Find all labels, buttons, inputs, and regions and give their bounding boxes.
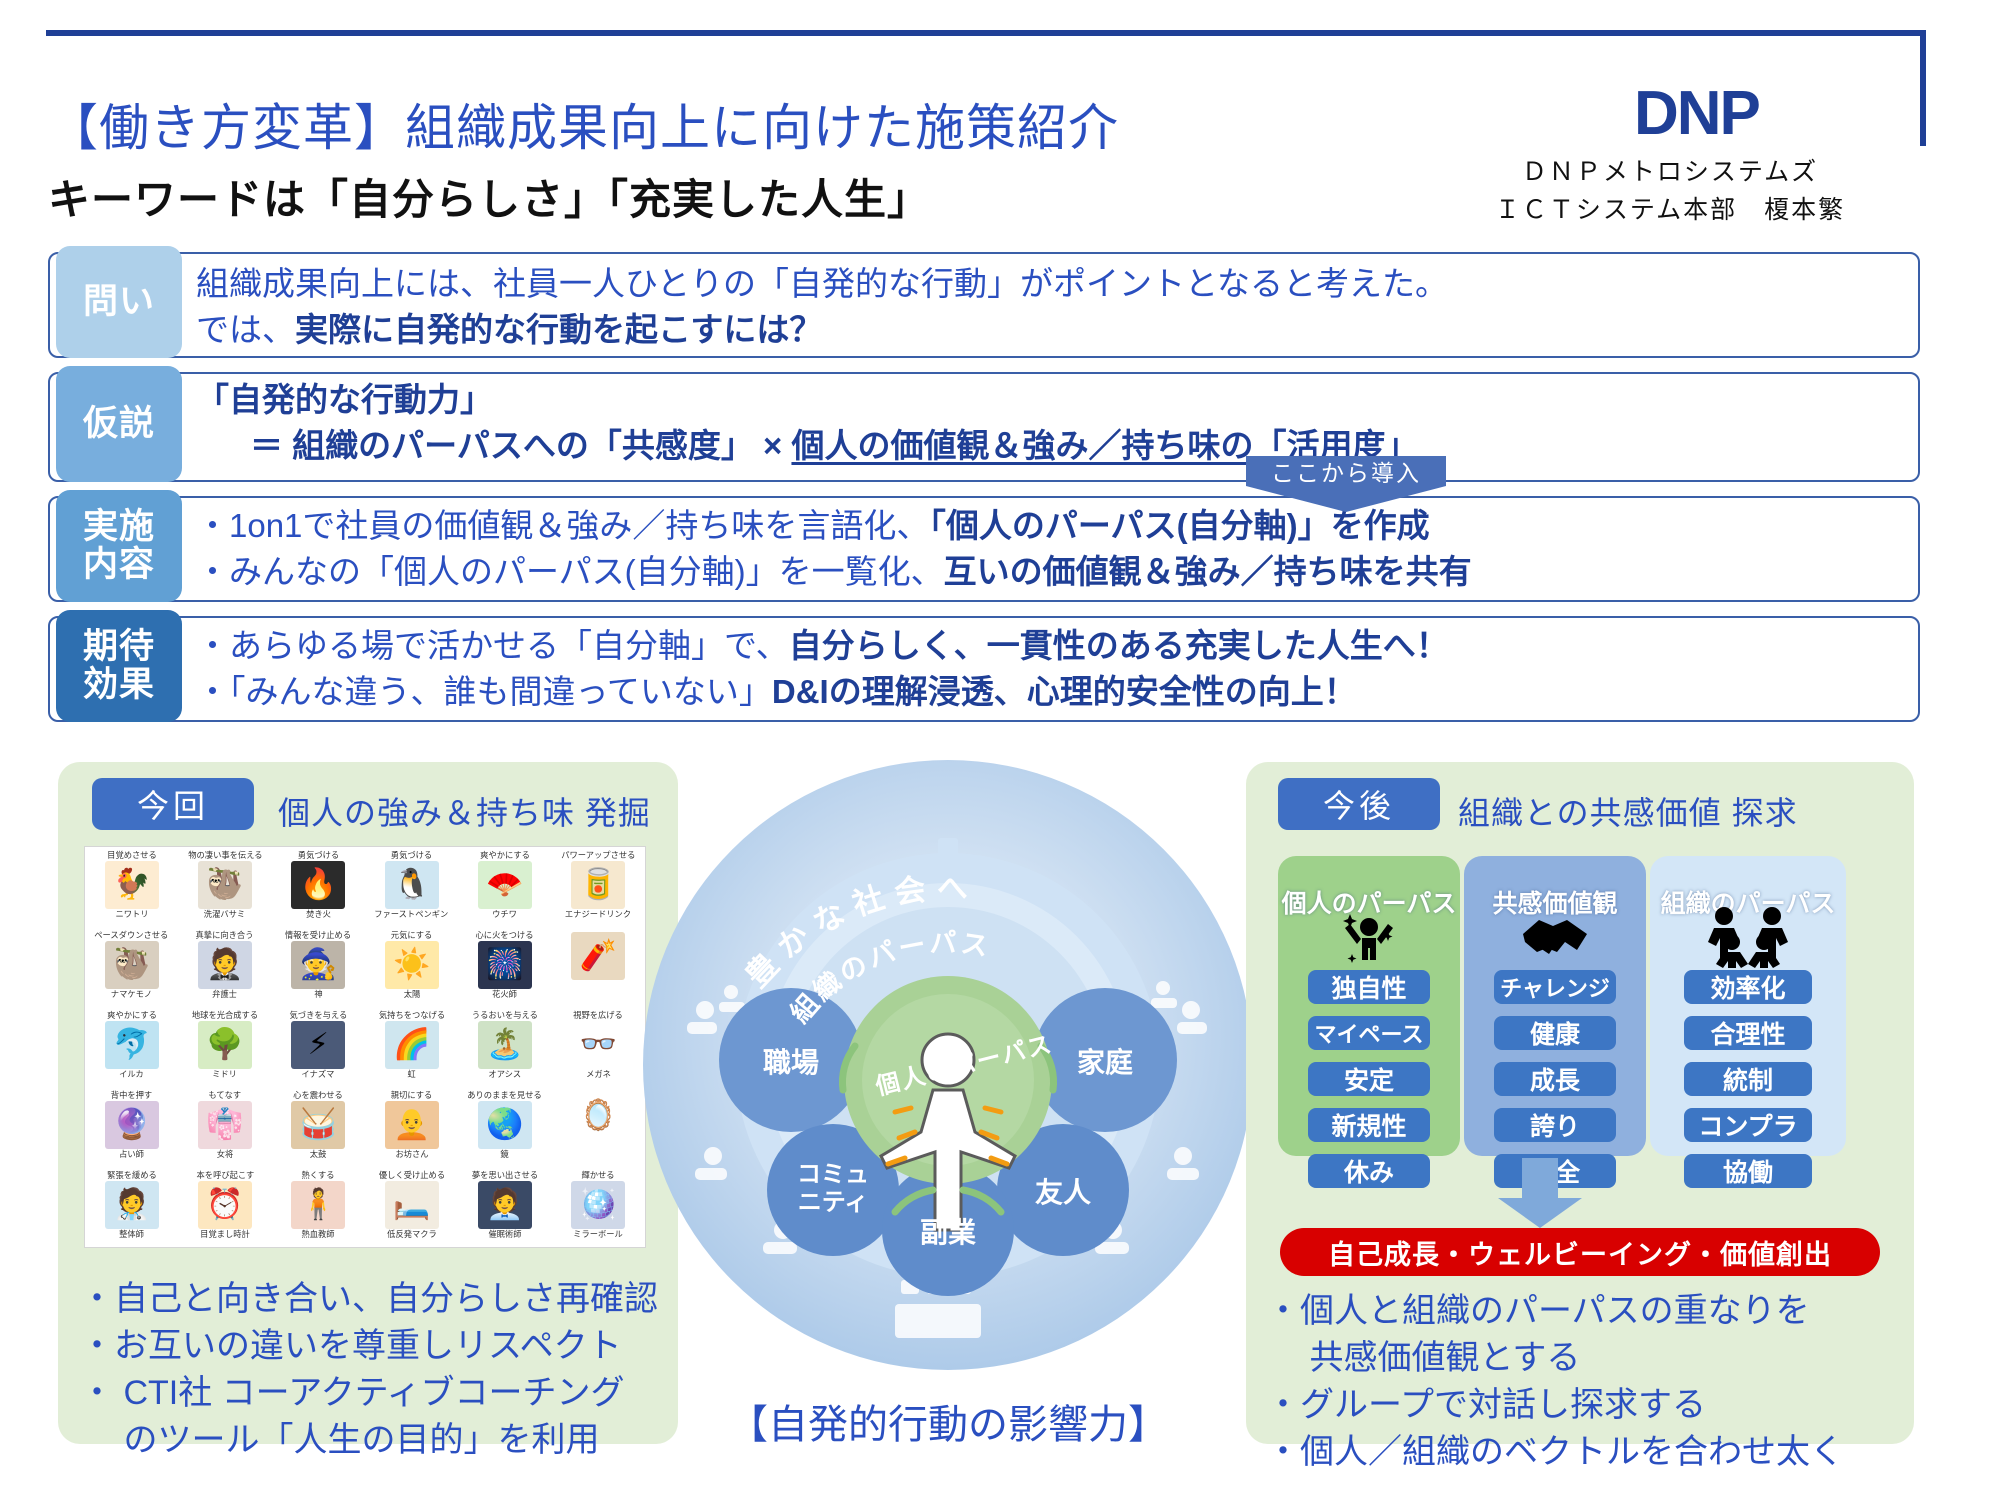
right-panel-bullets: ・個人と組織のパーパスの重なりを 共感価値観とする ・グループで対話し探求する … xyxy=(1266,1288,1844,1476)
strength-card[interactable]: 気持ちをつなげる🌈虹 xyxy=(365,1007,458,1087)
strength-card-image: 🥁 xyxy=(291,1101,345,1149)
strength-card-image: 🐓 xyxy=(105,861,159,909)
strength-card-caption: 気づきを与える xyxy=(289,1011,347,1020)
strength-card-caption: 視野を広げる xyxy=(573,1011,623,1020)
strength-card-image: 🪭 xyxy=(478,861,532,909)
strength-card-caption: 心を震わせる xyxy=(293,1091,343,1100)
strength-card-name: 催眠術師 xyxy=(488,1231,521,1240)
strength-card-image: 🧙 xyxy=(291,941,345,989)
frame-right-rule xyxy=(1920,30,1926,146)
strength-card-image: 🌏 xyxy=(478,1101,532,1149)
strength-card-name: イナズマ xyxy=(302,1071,335,1080)
strength-card-board[interactable]: 目覚めさせる🐓ニワトリ物の凄い事を伝える🦥洗濯バサミ勇気づける🔥焚き火勇気づける… xyxy=(84,846,646,1248)
strength-card[interactable]: ありのままを見せる🌏鏡 xyxy=(458,1087,551,1167)
strength-card-name: 虹 xyxy=(408,1071,416,1080)
row-effects-line2-plain: ・「みんな違う、誰も間違っていない」 xyxy=(196,673,772,710)
strength-card[interactable]: 熱くする🧍熱血教師 xyxy=(272,1167,365,1247)
dnp-logo: DNP xyxy=(1634,78,1759,149)
pill-individual-3[interactable]: 安定 xyxy=(1308,1062,1430,1096)
row-tag-activities: 実施 内容 xyxy=(56,490,182,602)
slide-root: 【働き方変革】組織成果向上に向けた施策紹介 キーワードは「自分らしさ」「充実した… xyxy=(0,0,1990,1512)
left-bullet-1: ・自己と向き合い、自分らしさ再確認 xyxy=(80,1276,658,1323)
strength-card-caption: 夢を思い出させる xyxy=(472,1171,538,1180)
strength-card[interactable]: うるおいを与える🏝️オアシス xyxy=(458,1007,551,1087)
strength-card[interactable]: 🪞 xyxy=(552,1087,645,1167)
strength-card-name: ミラーボール xyxy=(573,1231,623,1240)
strength-card-caption: パワーアップさせる xyxy=(561,851,635,860)
strength-card-name: 神 xyxy=(314,991,322,1000)
handshake-svg xyxy=(1519,910,1591,962)
row-tag-activities-line1: 実施 xyxy=(83,508,155,546)
pill-individual-5[interactable]: 休み xyxy=(1308,1154,1430,1188)
strength-card-name: 占い師 xyxy=(119,1151,144,1160)
strength-card-caption: 緊張を緩める xyxy=(107,1171,157,1180)
right-panel-head: 組織との共感価値 探求 xyxy=(1458,788,1798,834)
strength-card[interactable]: 目覚めさせる🐓ニワトリ xyxy=(85,847,178,927)
row-activities-line1: ・1on1で社員の価値観＆強み／持ち味を言語化、「個人のパーパス(自分軸)」を作… xyxy=(196,504,1430,548)
pill-shared-4[interactable]: 誇り xyxy=(1494,1108,1616,1142)
strength-card-name: 太鼓 xyxy=(310,1151,327,1160)
pill-individual-2[interactable]: マイペース xyxy=(1308,1016,1430,1050)
strength-card-image: ⏰ xyxy=(198,1181,252,1229)
strength-card-image: 🧍 xyxy=(291,1181,345,1229)
pill-individual-4[interactable]: 新規性 xyxy=(1308,1108,1430,1142)
strength-card-name: 焚き火 xyxy=(306,911,331,920)
strength-card-caption: 勇気づける xyxy=(391,851,432,860)
strength-card-caption: 熱くする xyxy=(302,1171,335,1180)
strength-card-name: 女将 xyxy=(217,1151,234,1160)
center-caption: 【自発的行動の影響力】 xyxy=(643,1392,1253,1450)
row-hypothesis-line2-bold: ＝ 組織のパーパスへの「共感度」 × xyxy=(250,427,791,464)
row-tag-effects: 期待 効果 xyxy=(56,610,182,722)
strength-card-image: 🛏️ xyxy=(385,1181,439,1229)
org-line-2: ＩＣＴシステム本部 榎本繁 xyxy=(1420,190,1920,226)
strength-card-image: 🔮 xyxy=(105,1101,159,1149)
introduce-banner: ここから導入 xyxy=(1246,456,1446,512)
row-question-line2-plain: では、 xyxy=(196,311,295,348)
influence-circle-diagram: 豊かな社会へ 組織のパーパス 個人のパーパス 職場 家庭 コミュ ニティ 友人 … xyxy=(643,760,1253,1370)
strength-card-caption: 親切にする xyxy=(391,1091,432,1100)
org-line-1: ＤＮＰメトロシステムズ xyxy=(1420,152,1920,188)
row-tag-question: 問い xyxy=(56,246,182,358)
row-tag-question-line1: 問い xyxy=(83,283,155,321)
right-bullet-2: 共感価値観とする xyxy=(1266,1335,1844,1382)
strength-card-name: ウチワ xyxy=(493,911,518,920)
row-question-line2: では、実際に自発的な行動を起こすには？ xyxy=(196,308,822,352)
pill-shared-1[interactable]: チャレンジ xyxy=(1494,970,1616,1004)
strength-card-caption: ありのままを見せる xyxy=(468,1091,543,1100)
strength-card-caption: 物の凄い事を伝える xyxy=(188,851,262,860)
outcome-band: 自己成長・ウェルビーイング・価値創出 xyxy=(1280,1228,1880,1276)
row-effects-line2: ・「みんな違う、誰も間違っていない」D&Iの理解浸透、心理的安全性の向上！ xyxy=(196,670,1357,714)
introduce-banner-label: ここから導入 xyxy=(1246,456,1446,486)
right-bullet-4: ・個人／組織のベクトルを合わせ太く xyxy=(1266,1429,1844,1476)
strength-card-image: 🧑‍⚕️ xyxy=(105,1181,159,1229)
row-tag-effects-line1: 期待 xyxy=(83,628,155,666)
strength-card-image: 👘 xyxy=(198,1101,252,1149)
row-effects-line2-bold: D&Iの理解浸透、心理的安全性の向上！ xyxy=(772,673,1357,710)
strength-card[interactable]: 視野を広げる👓メガネ xyxy=(552,1007,645,1087)
two-pairs-icon xyxy=(1650,906,1846,978)
strength-card-name: 花火師 xyxy=(493,991,518,1000)
down-arrow-icon xyxy=(1486,1158,1594,1233)
strength-card-caption: 地球を光合成する xyxy=(192,1011,258,1020)
strength-card[interactable]: 夢を思い出させる🧑‍💼催眠術師 xyxy=(458,1167,551,1247)
strength-card-name: お坊さん xyxy=(395,1151,428,1160)
strength-card-name: 熱血教師 xyxy=(302,1231,335,1240)
strength-card-caption: うるおいを与える xyxy=(472,1011,538,1020)
left-bullet-2: ・お互いの違いを尊重しリスペクト xyxy=(80,1323,658,1370)
pill-org-3[interactable]: 統制 xyxy=(1684,1062,1812,1096)
strength-card-name: 整体師 xyxy=(119,1231,144,1240)
row-question-line1-text: 組織成果向上には、社員一人ひとりの「自発的な行動」がポイントとなると考えた。 xyxy=(196,265,1448,302)
down-arrow-svg xyxy=(1486,1158,1594,1228)
strength-card-caption: 背中を押す xyxy=(111,1091,152,1100)
strength-card-image: 🏝️ xyxy=(478,1021,532,1069)
strength-card-image: 🎆 xyxy=(478,941,532,989)
strength-card[interactable]: 爽やかにする🐬イルカ xyxy=(85,1007,178,1087)
row-tag-effects-line2: 効果 xyxy=(83,666,155,704)
gear-label-sidejob: 副業 xyxy=(920,1217,976,1248)
row-question-line1: 組織成果向上には、社員一人ひとりの「自発的な行動」がポイントとなると考えた。 xyxy=(196,262,1448,306)
row-effects-line1-plain: ・あらゆる場で活かせる「自分軸」で、 xyxy=(196,627,789,664)
gear-label-friends: 友人 xyxy=(1035,1177,1091,1208)
circle-svg: 豊かな社会へ 組織のパーパス 個人のパーパス 職場 家庭 コミュ ニティ 友人 … xyxy=(643,760,1253,1370)
strength-card[interactable]: 勇気づける🐧ファーストペンギン xyxy=(365,847,458,927)
strength-card-name: オアシス xyxy=(489,1071,522,1080)
row-activities-line2-plain: ・みんなの「個人のパーパス(自分軸)」を一覧化、 xyxy=(196,553,944,590)
pill-org-1[interactable]: 効率化 xyxy=(1684,970,1812,1004)
strength-card-image: 🦥 xyxy=(105,941,159,989)
strength-card-caption: 優しく受け止める xyxy=(379,1171,445,1180)
strength-card[interactable]: 真摯に向き合う🤵弁護士 xyxy=(178,927,271,1007)
strength-card-image: 🔥 xyxy=(291,861,345,909)
strength-card[interactable]: 情報を受け止める🧙神 xyxy=(272,927,365,1007)
strength-card-image: 🧑‍💼 xyxy=(478,1181,532,1229)
strength-card-image: 🌳 xyxy=(198,1021,252,1069)
strength-card[interactable]: 緊張を緩める🧑‍⚕️整体師 xyxy=(85,1167,178,1247)
right-bullet-3: ・グループで対話し探求する xyxy=(1266,1382,1844,1429)
strength-card-caption: もてなす xyxy=(209,1091,242,1100)
strength-card-name: 低反発マクラ xyxy=(387,1231,437,1240)
right-panel-chip: 今後 xyxy=(1278,778,1440,830)
left-panel-head: 個人の強み＆持ち味 発掘 xyxy=(278,788,651,834)
strength-card[interactable]: 優しく受け止める🛏️低反発マクラ xyxy=(365,1167,458,1247)
frame-top-rule xyxy=(46,30,1926,36)
handshake-icon xyxy=(1464,910,1646,972)
strength-card[interactable]: もてなす👘女将 xyxy=(178,1087,271,1167)
row-activities-line2: ・みんなの「個人のパーパス(自分軸)」を一覧化、互いの価値観＆強み／持ち味を共有 xyxy=(196,550,1472,594)
strength-card-image: 🌈 xyxy=(385,1021,439,1069)
row-activities-line2-bold: 互いの価値観＆強み／持ち味を共有 xyxy=(944,553,1472,590)
left-panel-bullets: ・自己と向き合い、自分らしさ再確認 ・お互いの違いを尊重しリスペクト ・ CTI… xyxy=(80,1276,658,1464)
strength-card-name: 弁護士 xyxy=(213,991,238,1000)
strength-card-caption: 真摯に向き合う xyxy=(196,931,254,940)
strength-card-name: ファーストペンギン xyxy=(375,911,449,920)
strength-card-caption: 爽やかにする xyxy=(480,851,530,860)
strength-card-image: 🧨 xyxy=(571,932,625,980)
strength-card-caption: 勇気づける xyxy=(298,851,339,860)
gear-label-community: コミュ xyxy=(797,1161,869,1188)
gear-label-workplace: 職場 xyxy=(763,1047,819,1078)
strength-card-image: 🦥 xyxy=(198,861,252,909)
pill-org-2[interactable]: 合理性 xyxy=(1684,1016,1812,1050)
strength-card-image: 🐬 xyxy=(105,1021,159,1069)
row-effects-line1-bold: 自分らしく、一貫性のある充実した人生へ！ xyxy=(789,627,1449,664)
strength-card-name: ナマケモノ xyxy=(111,991,152,1000)
strength-card-caption: ペースダウンさせる xyxy=(95,931,169,940)
strength-card[interactable]: 勇気づける🔥焚き火 xyxy=(272,847,365,927)
two-pairs-svg xyxy=(1706,906,1790,968)
strength-card-name: 鏡 xyxy=(501,1151,509,1160)
strength-card-name: メガネ xyxy=(586,1071,611,1080)
row-activities-line1-plain: ・1on1で社員の価値観＆強み／持ち味を言語化、 xyxy=(196,507,929,544)
strength-card[interactable]: 本を呼び起こす⏰目覚まし時計 xyxy=(178,1167,271,1247)
strength-card-name: イルカ xyxy=(119,1071,144,1080)
strength-card[interactable]: 背中を押す🔮占い師 xyxy=(85,1087,178,1167)
strength-card[interactable]: 元気にする☀️太陽 xyxy=(365,927,458,1007)
strength-card-caption: 情報を受け止める xyxy=(285,931,351,940)
strength-card-caption: 元気にする xyxy=(391,931,432,940)
strength-card-caption: 心に火をつける xyxy=(476,931,534,940)
strength-card-image: 👓 xyxy=(571,1021,625,1069)
strength-card-name: エナジードリンク xyxy=(565,911,631,920)
strength-card[interactable]: 気づきを与える⚡イナズマ xyxy=(272,1007,365,1087)
strength-card-image: 🐧 xyxy=(385,861,439,909)
strength-card[interactable]: 親切にする🧑‍🦲お坊さん xyxy=(365,1087,458,1167)
strength-card-caption: 目覚めさせる xyxy=(107,851,157,860)
pill-org-5[interactable]: 協働 xyxy=(1684,1154,1812,1188)
strength-card[interactable]: パワーアップさせる🥫エナジードリンク xyxy=(552,847,645,927)
page-subtitle: キーワードは「自分らしさ」「充実した人生」 xyxy=(48,166,930,227)
row-activities-line1-bold: 「個人のパーパス(自分軸)」を作成 xyxy=(929,507,1429,544)
introduce-banner-arrow-icon xyxy=(1246,486,1446,512)
pill-individual-1[interactable]: 独自性 xyxy=(1308,970,1430,1004)
strength-card-name: ミドリ xyxy=(213,1071,238,1080)
row-effects-line1: ・あらゆる場で活かせる「自分軸」で、自分らしく、一貫性のある充実した人生へ！ xyxy=(196,624,1449,668)
strength-card[interactable]: ペースダウンさせる🦥ナマケモノ xyxy=(85,927,178,1007)
row-tag-hypothesis-line1: 仮説 xyxy=(83,405,155,443)
right-bullet-1: ・個人と組織のパーパスの重なりを xyxy=(1266,1288,1844,1335)
celebrate-person-icon xyxy=(1278,910,1460,976)
row-hypothesis-line2: ＝ 組織のパーパスへの「共感度」 × 個人の価値観＆強み／持ち味の「活用度」 xyxy=(250,424,1418,468)
strength-card[interactable]: 心に火をつける🎆花火師 xyxy=(458,927,551,1007)
strength-card-caption: 輝かせる xyxy=(582,1171,615,1180)
strength-card[interactable]: 🧨 xyxy=(552,927,645,1007)
strength-card-image: ☀️ xyxy=(385,941,439,989)
row-question-line2-bold: 実際に自発的な行動を起こすには？ xyxy=(295,311,822,348)
strength-card-caption: 爽やかにする xyxy=(107,1011,157,1020)
strength-card[interactable]: 輝かせる🪩ミラーボール xyxy=(552,1167,645,1247)
strength-card-caption: 本を呼び起こす xyxy=(196,1171,254,1180)
strength-card-caption: 気持ちをつなげる xyxy=(379,1011,445,1020)
left-panel-chip: 今回 xyxy=(92,778,254,830)
strength-card-name: 洗濯バサミ xyxy=(204,911,245,920)
celebrate-person-svg xyxy=(1336,910,1402,966)
row-tag-activities-line2: 内容 xyxy=(83,546,155,584)
gear-label-family: 家庭 xyxy=(1077,1046,1133,1078)
strength-card-name: 目覚まし時計 xyxy=(200,1231,250,1240)
left-bullet-4: のツール「人生の目的」を利用 xyxy=(80,1417,658,1464)
page-title: 【働き方変革】組織成果向上に向けた施策紹介 xyxy=(48,88,1119,160)
svg-text:ニティ: ニティ xyxy=(798,1189,869,1216)
row-hypothesis-line1: 「自発的な行動力」 xyxy=(196,378,493,422)
strength-card-image: 🪩 xyxy=(571,1181,625,1229)
pill-org-4[interactable]: コンプラ xyxy=(1684,1108,1812,1142)
left-bullet-3: ・ CTI社 コーアクティブコーチング xyxy=(80,1370,658,1417)
strength-card[interactable]: 地球を光合成する🌳ミドリ xyxy=(178,1007,271,1087)
pill-shared-2[interactable]: 健康 xyxy=(1494,1016,1616,1050)
strength-card-image: ⚡ xyxy=(291,1021,345,1069)
pill-shared-3[interactable]: 成長 xyxy=(1494,1062,1616,1096)
row-tag-hypothesis: 仮説 xyxy=(56,366,182,482)
strength-card-image: 🪞 xyxy=(571,1092,625,1140)
strength-card-name: ニワトリ xyxy=(115,911,148,920)
strength-card-image: 🧑‍🦲 xyxy=(385,1101,439,1149)
strength-card[interactable]: 物の凄い事を伝える🦥洗濯バサミ xyxy=(178,847,271,927)
strength-card-image: 🥫 xyxy=(571,861,625,909)
strength-card-image: 🤵 xyxy=(198,941,252,989)
strength-card[interactable]: 心を震わせる🥁太鼓 xyxy=(272,1087,365,1167)
strength-card[interactable]: 爽やかにする🪭ウチワ xyxy=(458,847,551,927)
strength-card-name: 太陽 xyxy=(403,991,420,1000)
